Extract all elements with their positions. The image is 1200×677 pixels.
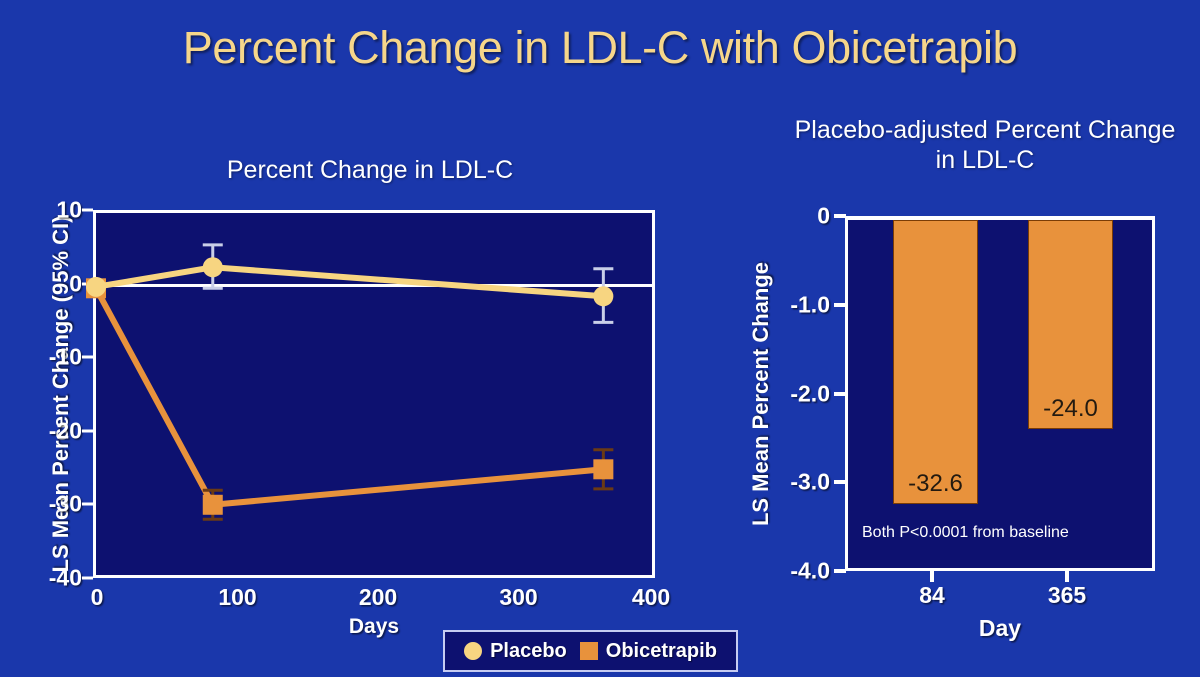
bar-y-tick-minus3: -3.0 (740, 469, 830, 496)
line-chart-panel: Percent Change in LDL-C LS Mean Percent … (0, 100, 690, 660)
line-x-tick-300: 300 (499, 584, 537, 611)
bar-y-tick-0: 0 (740, 203, 830, 230)
data-point-obicetrapib[interactable] (203, 495, 223, 515)
line-y-tick-0: 0 (2, 270, 82, 297)
line-x-tick-100: 100 (218, 584, 256, 611)
line-y-tickmark-minus20 (82, 429, 93, 432)
data-point-placebo[interactable] (86, 277, 106, 297)
square-marker-icon (580, 642, 598, 660)
bar-day-84[interactable]: -32.6 (893, 220, 978, 504)
bar-chart-panel: Placebo-adjusted Percent Change in LDL-C… (690, 100, 1200, 660)
line-chart-series-layer (96, 213, 652, 575)
data-point-placebo[interactable] (203, 257, 223, 277)
legend-item-placebo[interactable]: Placebo (464, 640, 567, 663)
line-y-tick-minus20: -20 (2, 417, 82, 444)
page-title: Percent Change in LDL-C with Obicetrapib (0, 22, 1200, 74)
line-x-tick-200: 200 (359, 584, 397, 611)
bar-value-day-84: -32.6 (894, 470, 977, 498)
bar-y-tick-minus1: -1.0 (740, 291, 830, 318)
line-chart-title: Percent Change in LDL-C (60, 156, 680, 186)
line-y-tickmark-10 (82, 209, 93, 212)
bar-day-365[interactable]: -24.0 (1028, 220, 1113, 429)
bar-x-tick-84: 84 (919, 582, 945, 609)
line-y-tick-minus40: -40 (2, 565, 82, 592)
bar-chart-footnote: Both P<0.0001 from baseline (862, 524, 1069, 542)
bar-y-tick-minus2: -2.0 (740, 380, 830, 407)
line-chart-y-axis-label: LS Mean Percent Change (95% CI) (48, 194, 74, 594)
line-y-tick-10: 10 (2, 197, 82, 224)
line-y-tickmark-minus40 (82, 577, 93, 580)
data-point-obicetrapib[interactable] (593, 459, 613, 479)
line-x-tick-400: 400 (632, 584, 670, 611)
bar-x-tick-365: 365 (1048, 582, 1086, 609)
bar-y-tick-minus4: -4.0 (740, 558, 830, 585)
line-y-tick-minus10: -10 (2, 344, 82, 371)
series-placebo (86, 245, 613, 322)
bar-chart-plot-area: -32.6 -24.0 Both P<0.0001 from baseline (845, 216, 1155, 571)
circle-marker-icon (464, 642, 482, 660)
line-y-tick-minus30: -30 (2, 491, 82, 518)
bar-value-day-365: -24.0 (1029, 395, 1112, 423)
line-y-tickmark-minus30 (82, 503, 93, 506)
bar-chart-x-axis-label: Day (845, 615, 1155, 642)
bar-chart-title: Placebo-adjusted Percent Change in LDL-C (785, 116, 1185, 175)
line-chart-plot-area: Placebo Obicetrapib (93, 210, 655, 578)
series-obicetrapib (86, 278, 613, 519)
line-x-tick-0: 0 (91, 584, 104, 611)
slide-canvas: Percent Change in LDL-C with Obicetrapib… (0, 0, 1200, 677)
data-point-placebo[interactable] (593, 286, 613, 306)
line-y-tickmark-minus10 (82, 356, 93, 359)
legend-label-placebo: Placebo (490, 640, 567, 663)
